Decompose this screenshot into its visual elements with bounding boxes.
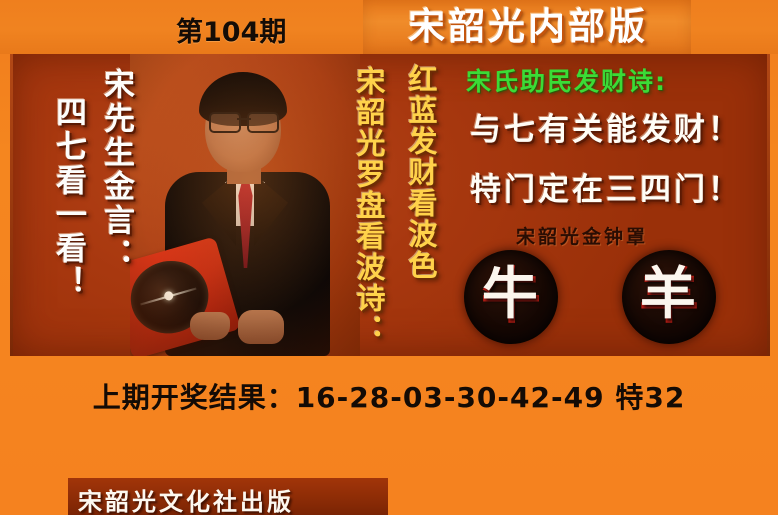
issue-number: 第104期 bbox=[176, 10, 286, 49]
poem-block: 宋氏助民发财诗: 与七有关能发财！ 特门定在三四门！ 宋韶光金钟罩 牛 牛 羊 … bbox=[450, 54, 770, 356]
previous-draw-results: 上期开奖结果：16-28-03-30-42-49 特32 bbox=[0, 378, 778, 418]
vertical-text-siqi-kan-yikan: 四七看一看！ bbox=[46, 96, 91, 300]
publisher-label: 宋韶光文化社出版 bbox=[78, 482, 294, 515]
poem-heading: 宋氏助民发财诗: bbox=[466, 62, 667, 98]
header-bar: 第104期 宋韶光内部版 bbox=[0, 0, 778, 54]
vertical-text-luopan-kanbo-shi: 宋韶光罗盘看波诗： bbox=[348, 66, 390, 345]
vertical-text-honglan-facai-kanbose: 红蓝发财看波色 bbox=[400, 64, 442, 281]
poem-line-2: 特门定在三四门！ bbox=[470, 164, 742, 209]
vertical-text-song-xiansheng-jinyan: 宋先生金言： bbox=[94, 68, 139, 272]
portrait-photo bbox=[130, 54, 360, 356]
seal-goat-white-glyph: 羊 bbox=[640, 267, 696, 323]
seal-goat: 羊 羊 bbox=[622, 250, 716, 344]
seal-ox-white-glyph: 牛 bbox=[482, 267, 538, 323]
page-title: 宋韶光内部版 bbox=[372, 2, 684, 52]
poster-root: 第104期 宋韶光内部版 bbox=[0, 0, 778, 515]
portrait-vignette bbox=[130, 54, 360, 356]
main-panel: 宋先生金言： 四七看一看！ 宋韶光罗盘看波诗： 红蓝发财看波色 宋氏助民发财诗:… bbox=[10, 54, 770, 356]
poem-line-1: 与七有关能发财！ bbox=[470, 104, 742, 149]
seal-caption: 宋韶光金钟罩 bbox=[516, 222, 648, 249]
panel-left-edge bbox=[10, 54, 13, 356]
seal-ox: 牛 牛 bbox=[464, 250, 558, 344]
